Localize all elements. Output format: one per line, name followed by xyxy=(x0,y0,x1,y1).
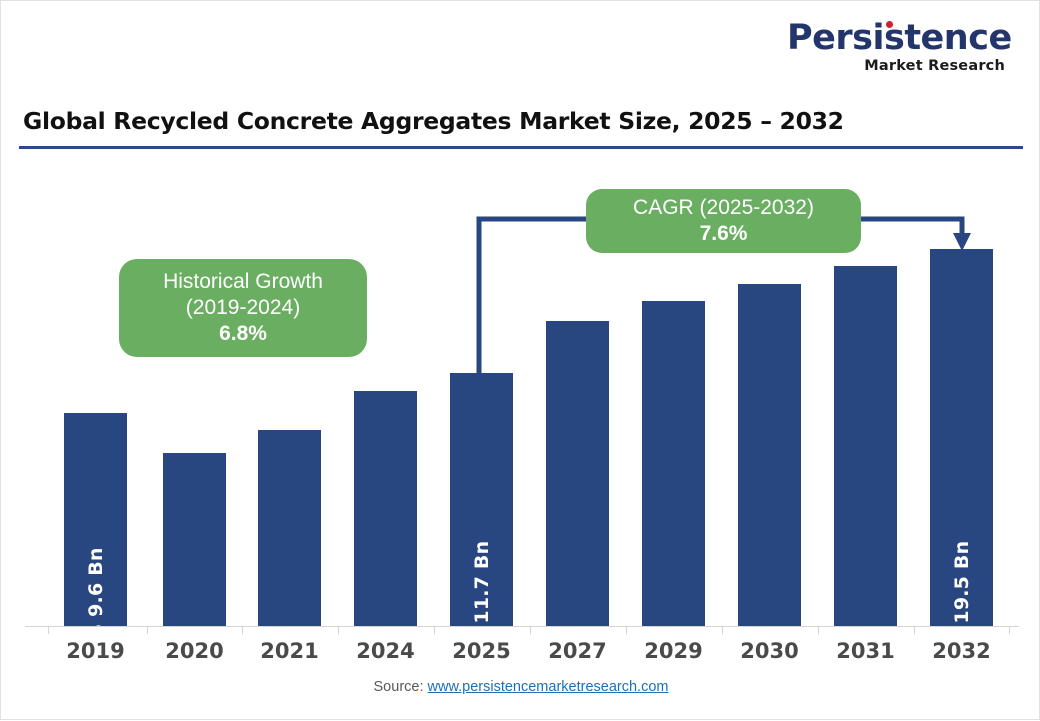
bar-2031 xyxy=(834,266,897,626)
x-axis-label-2027: 2027 xyxy=(533,639,623,663)
x-axis-label-2031: 2031 xyxy=(821,639,911,663)
x-axis-tick-3 xyxy=(338,626,339,634)
x-axis-label-2030: 2030 xyxy=(725,639,815,663)
bar-2030 xyxy=(738,284,801,626)
historical-growth-line2: (2019-2024) xyxy=(186,295,300,321)
bar-2019: US$ 9.6 Bn xyxy=(64,413,127,626)
x-axis-tick-9 xyxy=(914,626,915,634)
bar-2020 xyxy=(163,453,226,626)
source-note: Source: www.persistencemarketresearch.co… xyxy=(1,679,1040,695)
cagr-callout: CAGR (2025-2032) 7.6% xyxy=(586,189,861,253)
x-axis-tick-2 xyxy=(242,626,243,634)
x-axis-label-2025: 2025 xyxy=(437,639,527,663)
x-axis-label-2019: 2019 xyxy=(51,639,141,663)
x-axis-tick-1 xyxy=(147,626,148,634)
source-prefix: Source: xyxy=(374,679,428,695)
cagr-value: 7.6% xyxy=(700,221,748,247)
x-axis-tick-6 xyxy=(626,626,627,634)
x-axis-tick-8 xyxy=(818,626,819,634)
x-axis-label-2024: 2024 xyxy=(341,639,431,663)
x-axis-tick-7 xyxy=(722,626,723,634)
bar-2024 xyxy=(354,391,417,626)
bar-2027 xyxy=(546,321,609,626)
bar-2025: US$ 11.7 Bn xyxy=(450,373,513,626)
x-axis-label-2020: 2020 xyxy=(150,639,240,663)
historical-growth-value: 6.8% xyxy=(219,321,267,347)
historical-growth-line1: Historical Growth xyxy=(163,269,323,295)
bar-2032: US$ 19.5 Bn xyxy=(930,249,993,626)
source-link[interactable]: www.persistencemarketresearch.com xyxy=(428,679,669,695)
x-axis-label-2029: 2029 xyxy=(629,639,719,663)
x-axis-line xyxy=(25,626,1019,627)
x-axis-tick-end xyxy=(1009,626,1010,634)
x-axis-tick-4 xyxy=(434,626,435,634)
cagr-line1: CAGR (2025-2032) xyxy=(633,195,814,221)
bar-chart-plot-area: US$ 9.6 BnUS$ 11.7 BnUS$ 19.5 Bn xyxy=(1,1,1040,721)
x-axis-tick-5 xyxy=(530,626,531,634)
bar-2029 xyxy=(642,301,705,626)
bar-2021 xyxy=(258,430,321,626)
x-axis-label-2021: 2021 xyxy=(245,639,335,663)
historical-growth-callout: Historical Growth (2019-2024) 6.8% xyxy=(119,259,367,357)
x-axis-tick-0 xyxy=(48,626,49,634)
x-axis-label-2032: 2032 xyxy=(917,639,1007,663)
chart-card: Persistence Market Research Global Recyc… xyxy=(0,0,1040,720)
